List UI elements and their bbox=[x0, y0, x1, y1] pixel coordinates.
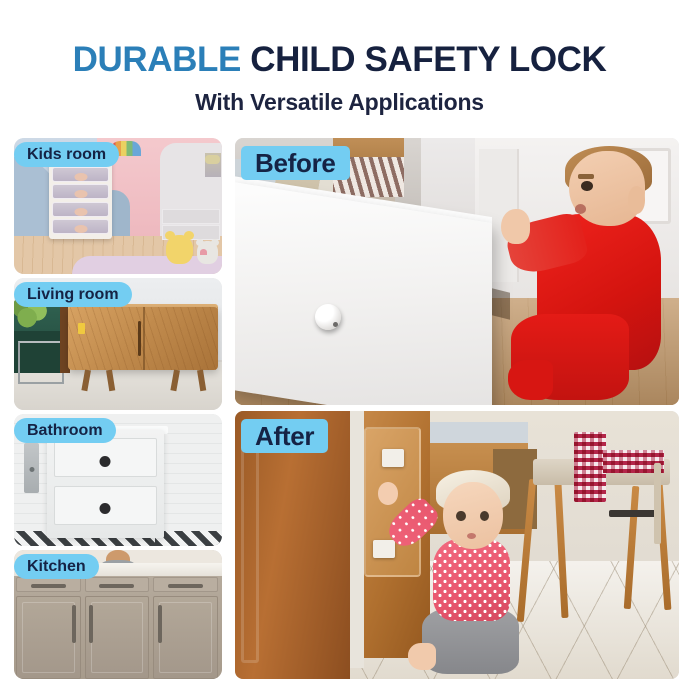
baby-red-onesie bbox=[501, 149, 661, 400]
badge-after: After bbox=[241, 419, 328, 453]
baby-bare-foot bbox=[408, 643, 436, 669]
bed-drawer-upper bbox=[162, 209, 220, 224]
baby-pink-top bbox=[413, 470, 528, 674]
drawer-knob-icon bbox=[74, 190, 87, 198]
bed-pillow bbox=[205, 155, 220, 164]
heart-icon bbox=[200, 249, 207, 255]
badge-kids-room: Kids room bbox=[14, 142, 119, 167]
glass-side-table bbox=[18, 341, 64, 383]
panel-before[interactable]: Before bbox=[235, 138, 679, 405]
cabinet-door-split bbox=[143, 307, 145, 370]
page-title: DURABLE CHILD SAFETY LOCK bbox=[73, 42, 607, 77]
safety-lock-lower bbox=[373, 540, 395, 559]
highchair-leg bbox=[624, 486, 640, 610]
baby-ear bbox=[628, 186, 646, 214]
panel-grid: Kids room bbox=[0, 128, 679, 679]
page-subtitle: With Versatile Applications bbox=[195, 91, 484, 114]
bathroom-vanity bbox=[47, 430, 163, 538]
highchair-leg bbox=[555, 483, 569, 618]
header-block: DURABLE CHILD SAFETY LOCK With Versatile… bbox=[0, 0, 679, 128]
towel-knob-icon bbox=[29, 467, 34, 472]
vanity-drawer-upper bbox=[54, 438, 156, 477]
panel-living-room[interactable]: Living room bbox=[14, 278, 222, 410]
wooden-sideboard bbox=[68, 307, 218, 370]
baby-mouth bbox=[575, 204, 586, 214]
checkered-tile-floor-right bbox=[155, 531, 222, 546]
headline-accent-word: DURABLE bbox=[73, 40, 241, 79]
highchair-crossbar bbox=[609, 510, 660, 518]
baby-hand bbox=[501, 209, 530, 244]
baby-eye-right bbox=[480, 511, 489, 521]
badge-kitchen: Kitchen bbox=[14, 554, 99, 579]
drawer-knob-icon bbox=[74, 208, 87, 216]
product-infographic: DURABLE CHILD SAFETY LOCK With Versatile… bbox=[0, 0, 679, 679]
baby-eye bbox=[581, 181, 592, 191]
panel-after[interactable]: After bbox=[235, 411, 679, 679]
safety-lock-upper bbox=[382, 449, 404, 468]
drawer-knob-icon bbox=[74, 225, 87, 233]
kitchen-drawer bbox=[153, 577, 217, 592]
baby-eye-left bbox=[456, 511, 465, 521]
door-panel-edge bbox=[22, 602, 74, 673]
door-panel-edge bbox=[159, 602, 211, 673]
wooden-highchair bbox=[510, 432, 670, 625]
drawer-knob-icon bbox=[74, 173, 87, 181]
drawer-knob-icon bbox=[100, 503, 111, 514]
kitchen-cabinet-door bbox=[16, 596, 80, 679]
kitchen-drawer bbox=[85, 577, 149, 592]
headline-rest bbox=[241, 40, 250, 79]
panel-bathroom[interactable]: Bathroom bbox=[14, 414, 222, 546]
door-handle-icon bbox=[89, 605, 93, 642]
panel-kitchen[interactable]: Kitchen bbox=[14, 550, 222, 679]
badge-before: Before bbox=[241, 146, 350, 180]
kitchen-cabinet-door bbox=[85, 596, 149, 679]
cabinet-trim bbox=[350, 411, 363, 668]
dresser-drawer-3 bbox=[52, 202, 108, 217]
towel-holder bbox=[24, 443, 39, 493]
baby-polka-dot-top bbox=[433, 539, 509, 620]
baby-head bbox=[443, 482, 503, 549]
checkered-cloth bbox=[574, 432, 606, 501]
door-handle-icon bbox=[158, 605, 162, 642]
kitchen-drawer bbox=[16, 577, 80, 592]
baby-foot bbox=[508, 360, 553, 400]
dresser-drawer-4 bbox=[52, 219, 108, 234]
drawer-handle-icon bbox=[168, 584, 203, 588]
dresser-drawer-2 bbox=[52, 184, 108, 199]
badge-bathroom: Bathroom bbox=[14, 418, 116, 443]
door-handle-icon bbox=[72, 605, 76, 642]
drawer-handle-icon bbox=[31, 584, 66, 588]
baby-hand bbox=[378, 482, 398, 504]
badge-living-room: Living room bbox=[14, 282, 132, 307]
yellow-tag bbox=[78, 323, 85, 334]
kids-dresser bbox=[49, 160, 111, 239]
cabinet-panel bbox=[241, 422, 259, 663]
highchair-strap bbox=[654, 463, 660, 544]
cabinet-handle bbox=[138, 321, 141, 356]
dresser-drawer-1 bbox=[52, 167, 108, 182]
vanity-drawer-lower bbox=[54, 486, 156, 525]
drawer-knob-icon bbox=[100, 456, 111, 467]
knob-screw-icon bbox=[333, 322, 338, 327]
kitchen-cabinet-door bbox=[153, 596, 217, 679]
door-panel-edge bbox=[91, 602, 143, 673]
panel-kids-room[interactable]: Kids room bbox=[14, 138, 222, 274]
baby-eyebrow bbox=[578, 174, 594, 179]
headline-main: CHILD SAFETY LOCK bbox=[250, 40, 606, 79]
drawer-handle-icon bbox=[99, 584, 134, 588]
yellow-teddy-bear bbox=[166, 235, 193, 265]
